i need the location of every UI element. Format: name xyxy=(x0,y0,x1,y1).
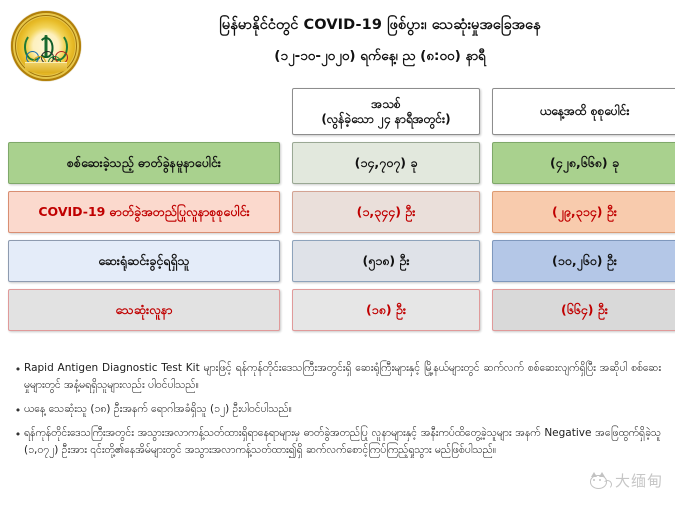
ministry-logo-icon xyxy=(11,11,81,81)
bullet-icon: • xyxy=(12,401,24,419)
watermark: 大缅甸 xyxy=(589,470,663,491)
column-header-new: အသစ် (လွန်ခဲ့သော ၂၄ နာရီအတွင်း) xyxy=(292,88,480,135)
footnote-text-3: ရန်ကုန်တိုင်းဒေသကြီးအတွင်း အသွားအလာကန့်သ… xyxy=(24,425,661,460)
row-new-discharged: (၅၁၈) ဦး xyxy=(292,240,480,282)
bullet-icon: • xyxy=(12,425,24,443)
row-new-deaths: (၁၈) ဦး xyxy=(292,289,480,331)
row-total-discharged: (၁၀,၂၆၀) ဦး xyxy=(492,240,675,282)
table-row: COVID-19 ဓာတ်ခွဲအတည်ပြုလူနာစုစုပေါင်း (၁… xyxy=(0,191,675,233)
list-item: • ယနေ့ သေဆုံးသူ (၁၈) ဦးအနက် ရောဂါအခံရှိသ… xyxy=(12,401,661,419)
row-label-discharged: ဆေးရုံဆင်းခွင့်ရရှိသူ xyxy=(8,240,280,282)
row-label-confirmed-cases: COVID-19 ဓာတ်ခွဲအတည်ပြုလူနာစုစုပေါင်း xyxy=(8,191,280,233)
row-label-samples-tested: စစ်ဆေးခဲ့သည့် ဓာတ်ခွဲနမူနာပေါင်း xyxy=(8,142,280,184)
row-label-deaths: သေဆုံးလူနာ xyxy=(8,289,280,331)
footnotes: • Rapid Antigen Diagnostic Test Kit များ… xyxy=(0,360,675,465)
covid-summary-table: အသစ် (လွန်ခဲ့သော ၂၄ နာရီအတွင်း) ယနေ့အထိ … xyxy=(0,88,675,338)
column-header-total: ယနေ့အထိ စုစုပေါင်း xyxy=(492,88,675,135)
logo-ribbon xyxy=(25,62,67,73)
page-title: မြန်မာနိုင်ငံတွင် COVID-19 ဖြစ်ပွား၊ သေဆ… xyxy=(95,16,665,36)
bullet-icon: • xyxy=(12,360,24,378)
row-total-deaths: (၆၆၄) ဦး xyxy=(492,289,675,331)
table-row: ဆေးရုံဆင်းခွင့်ရရှိသူ (၅၁၈) ဦး (၁၀,၂၆၀) … xyxy=(0,240,675,282)
table-header-spacer xyxy=(8,88,280,135)
cat-icon xyxy=(589,472,611,489)
column-header-new-line1: အသစ် xyxy=(321,97,450,112)
list-item: • ရန်ကုန်တိုင်းဒေသကြီးအတွင်း အသွားအလာကန့… xyxy=(12,425,661,460)
row-total-samples-tested: (၄၂၈,၆၆၈) ခု xyxy=(492,142,675,184)
table-row: သေဆုံးလူနာ (၁၈) ဦး (၆၆၄) ဦး xyxy=(0,289,675,331)
table-header-row: အသစ် (လွန်ခဲ့သော ၂၄ နာရီအတွင်း) ယနေ့အထိ … xyxy=(0,88,675,135)
page-subtitle-datetime: (၁၂-၁၀-၂၀၂၀) ရက်နေ့၊ ည (၈:၀၀) နာရီ xyxy=(95,48,665,66)
footnote-text-1: Rapid Antigen Diagnostic Test Kit များဖြ… xyxy=(24,360,661,395)
footnote-text-2: ယနေ့ သေဆုံးသူ (၁၈) ဦးအနက် ရောဂါအခံရှိသူ … xyxy=(24,401,661,418)
page-header: မြန်မာနိုင်ငံတွင် COVID-19 ဖြစ်ပွား၊ သေဆ… xyxy=(0,0,675,86)
list-item: • Rapid Antigen Diagnostic Test Kit များ… xyxy=(12,360,661,395)
table-row: စစ်ဆေးခဲ့သည့် ဓာတ်ခွဲနမူနာပေါင်း (၁၄,၇၀၇… xyxy=(0,142,675,184)
row-total-confirmed-cases: (၂၉,၃၁၄) ဦး xyxy=(492,191,675,233)
watermark-text: 大缅甸 xyxy=(615,470,663,491)
column-header-new-line2: (လွန်ခဲ့သော ၂၄ နာရီအတွင်း) xyxy=(321,112,450,127)
title-block: မြန်မာနိုင်ငံတွင် COVID-19 ဖြစ်ပွား၊ သေဆ… xyxy=(95,16,665,65)
row-new-confirmed-cases: (၁,၃၄၄) ဦး xyxy=(292,191,480,233)
row-new-samples-tested: (၁၄,၇၀၇) ခု xyxy=(292,142,480,184)
